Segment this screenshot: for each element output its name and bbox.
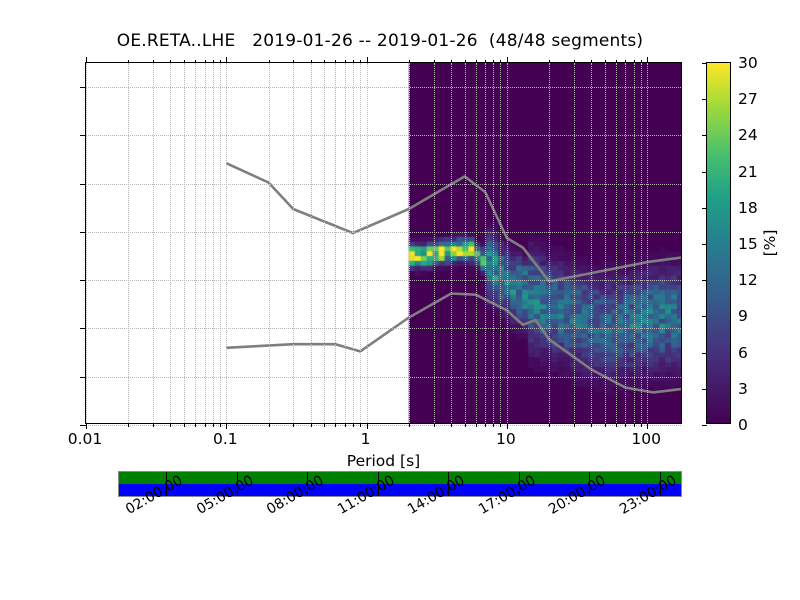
- x-tick-top: [345, 60, 346, 64]
- colorbar-tick: [702, 63, 707, 64]
- x-tick-top: [485, 60, 486, 64]
- x-tick: [591, 423, 592, 427]
- x-tick-label: 0.1: [213, 430, 238, 448]
- colorbar-tick-label: 30: [738, 54, 758, 72]
- grid-line-vertical: [625, 63, 626, 423]
- x-tick-top: [360, 60, 361, 64]
- x-tick: [647, 423, 648, 429]
- y-tick: [80, 328, 86, 329]
- grid-line-vertical: [493, 63, 494, 423]
- x-tick-top: [641, 60, 642, 64]
- grid-line-vertical: [205, 63, 206, 423]
- colorbar-tick: [702, 135, 707, 136]
- x-tick-top: [634, 60, 635, 64]
- grid-line-vertical: [647, 63, 648, 423]
- grid-line-vertical: [409, 63, 410, 423]
- grid-line-horizontal: [86, 280, 681, 281]
- grid-line-horizontal: [86, 184, 681, 185]
- x-tick-top: [451, 60, 452, 64]
- grid-line-vertical: [500, 63, 501, 423]
- grid-line-horizontal: [86, 232, 681, 233]
- x-tick-top: [434, 60, 435, 64]
- grid-line-vertical: [195, 63, 196, 423]
- colorbar: 036912151821242730: [706, 62, 731, 424]
- x-tick-top: [647, 57, 648, 63]
- colorbar-tick: [702, 172, 707, 173]
- x-tick: [605, 423, 606, 427]
- x-tick: [226, 423, 227, 429]
- colorbar-tick-label: 3: [738, 380, 748, 398]
- colorbar-label: [%]: [761, 230, 779, 257]
- colorbar-tick-label: 18: [738, 199, 758, 217]
- grid-line-vertical: [465, 63, 466, 423]
- x-tick-top: [353, 60, 354, 64]
- x-tick-top: [220, 60, 221, 64]
- x-tick: [345, 423, 346, 427]
- x-tick: [616, 423, 617, 427]
- x-tick: [507, 423, 508, 429]
- x-tick-top: [335, 60, 336, 64]
- x-tick-top: [465, 60, 466, 64]
- grid-line-vertical: [485, 63, 486, 423]
- x-tick-top: [86, 57, 87, 63]
- x-tick: [269, 423, 270, 427]
- x-tick: [86, 423, 87, 429]
- x-tick-top: [153, 60, 154, 64]
- colorbar-tick: [702, 99, 707, 100]
- x-tick: [195, 423, 196, 427]
- colorbar-tick-label: 27: [738, 90, 758, 108]
- y-tick: [80, 377, 86, 378]
- colorbar-tick: [702, 353, 707, 354]
- x-tick: [324, 423, 325, 427]
- x-tick-top: [591, 60, 592, 64]
- y-tick: [80, 232, 86, 233]
- x-tick: [335, 423, 336, 427]
- x-tick: [170, 423, 171, 427]
- x-tick: [549, 423, 550, 427]
- grid-line-vertical: [184, 63, 185, 423]
- noise-model-nhnm: [226, 163, 681, 281]
- colorbar-tick-label: 6: [738, 344, 748, 362]
- x-tick: [476, 423, 477, 427]
- x-tick-top: [170, 60, 171, 64]
- grid-line-vertical: [574, 63, 575, 423]
- x-tick-top: [205, 60, 206, 64]
- grid-line-horizontal: [86, 87, 681, 88]
- grid-line-vertical: [360, 63, 361, 423]
- page-title: OE.RETA..LHE 2019-01-26 -- 2019-01-26 (4…: [0, 31, 760, 51]
- x-tick: [465, 423, 466, 427]
- x-tick: [451, 423, 452, 427]
- grid-line-vertical: [507, 63, 508, 423]
- ppsd-plot-axes: −60−80−100−120−140−160−180−200: [85, 62, 682, 424]
- x-tick-top: [574, 60, 575, 64]
- x-tick-top: [616, 60, 617, 64]
- grid-line-vertical: [269, 63, 270, 423]
- x-tick: [367, 423, 368, 429]
- x-tick: [434, 423, 435, 427]
- x-tick-label: 100: [631, 430, 661, 448]
- grid-line-vertical: [213, 63, 214, 423]
- x-tick-top: [184, 60, 185, 64]
- grid-line-vertical: [434, 63, 435, 423]
- x-tick-top: [476, 60, 477, 64]
- colorbar-tick-label: 12: [738, 271, 758, 289]
- colorbar-tick: [702, 316, 707, 317]
- grid-line-vertical: [153, 63, 154, 423]
- colorbar-tick: [702, 425, 707, 426]
- grid-line-vertical: [128, 63, 129, 423]
- grid-line-vertical: [345, 63, 346, 423]
- x-tick: [293, 423, 294, 427]
- x-tick: [205, 423, 206, 427]
- x-tick: [311, 423, 312, 427]
- grid-line-vertical: [226, 63, 227, 423]
- x-tick-top: [549, 60, 550, 64]
- x-tick: [574, 423, 575, 427]
- x-tick: [409, 423, 410, 427]
- x-tick-top: [324, 60, 325, 64]
- grid-line-vertical: [293, 63, 294, 423]
- colorbar-tick: [702, 244, 707, 245]
- grid-line-vertical: [616, 63, 617, 423]
- x-tick: [353, 423, 354, 427]
- x-tick-label: 1: [361, 430, 371, 448]
- grid-line-vertical: [335, 63, 336, 423]
- x-axis-label: Period [s]: [85, 452, 682, 470]
- grid-line-vertical: [641, 63, 642, 423]
- x-tick: [360, 423, 361, 427]
- x-tick: [220, 423, 221, 427]
- colorbar-tick: [702, 208, 707, 209]
- grid-line-vertical: [353, 63, 354, 423]
- x-tick-top: [226, 57, 227, 63]
- x-tick-top: [293, 60, 294, 64]
- grid-line-vertical: [220, 63, 221, 423]
- grid-line-vertical: [634, 63, 635, 423]
- x-tick-top: [269, 60, 270, 64]
- grid-line-vertical: [591, 63, 592, 423]
- colorbar-tick: [702, 389, 707, 390]
- x-tick-top: [195, 60, 196, 64]
- x-tick-top: [213, 60, 214, 64]
- x-tick: [634, 423, 635, 427]
- x-tick-top: [409, 60, 410, 64]
- x-tick: [184, 423, 185, 427]
- grid-line-vertical: [367, 63, 368, 423]
- x-tick-top: [311, 60, 312, 64]
- grid-line-vertical: [86, 63, 87, 423]
- grid-line-horizontal: [86, 377, 681, 378]
- y-tick: [80, 135, 86, 136]
- colorbar-tick-label: 0: [738, 416, 748, 434]
- grid-line-horizontal: [86, 135, 681, 136]
- x-tick: [485, 423, 486, 427]
- x-tick-label: 10: [496, 430, 516, 448]
- y-tick: [80, 184, 86, 185]
- x-tick-top: [128, 60, 129, 64]
- x-tick-top: [605, 60, 606, 64]
- x-tick-top: [500, 60, 501, 64]
- grid-line-vertical: [311, 63, 312, 423]
- grid-line-horizontal: [86, 328, 681, 329]
- x-tick: [128, 423, 129, 427]
- grid-line-vertical: [324, 63, 325, 423]
- grid-line-vertical: [451, 63, 452, 423]
- x-tick-label: 0.01: [68, 430, 103, 448]
- x-tick: [493, 423, 494, 427]
- colorbar-tick-label: 15: [738, 235, 758, 253]
- colorbar-tick-label: 24: [738, 126, 758, 144]
- colorbar-tick-label: 21: [738, 163, 758, 181]
- x-tick-top: [625, 60, 626, 64]
- y-tick: [80, 280, 86, 281]
- colorbar-tick: [702, 280, 707, 281]
- x-tick: [641, 423, 642, 427]
- x-tick-top: [507, 57, 508, 63]
- grid-line-vertical: [170, 63, 171, 423]
- grid-line-vertical: [476, 63, 477, 423]
- y-tick: [80, 87, 86, 88]
- grid-line-vertical: [605, 63, 606, 423]
- x-tick: [153, 423, 154, 427]
- grid-line-vertical: [549, 63, 550, 423]
- x-tick-top: [493, 60, 494, 64]
- x-tick: [213, 423, 214, 427]
- x-tick-top: [367, 57, 368, 63]
- x-tick: [500, 423, 501, 427]
- x-tick: [625, 423, 626, 427]
- colorbar-tick-label: 9: [738, 307, 748, 325]
